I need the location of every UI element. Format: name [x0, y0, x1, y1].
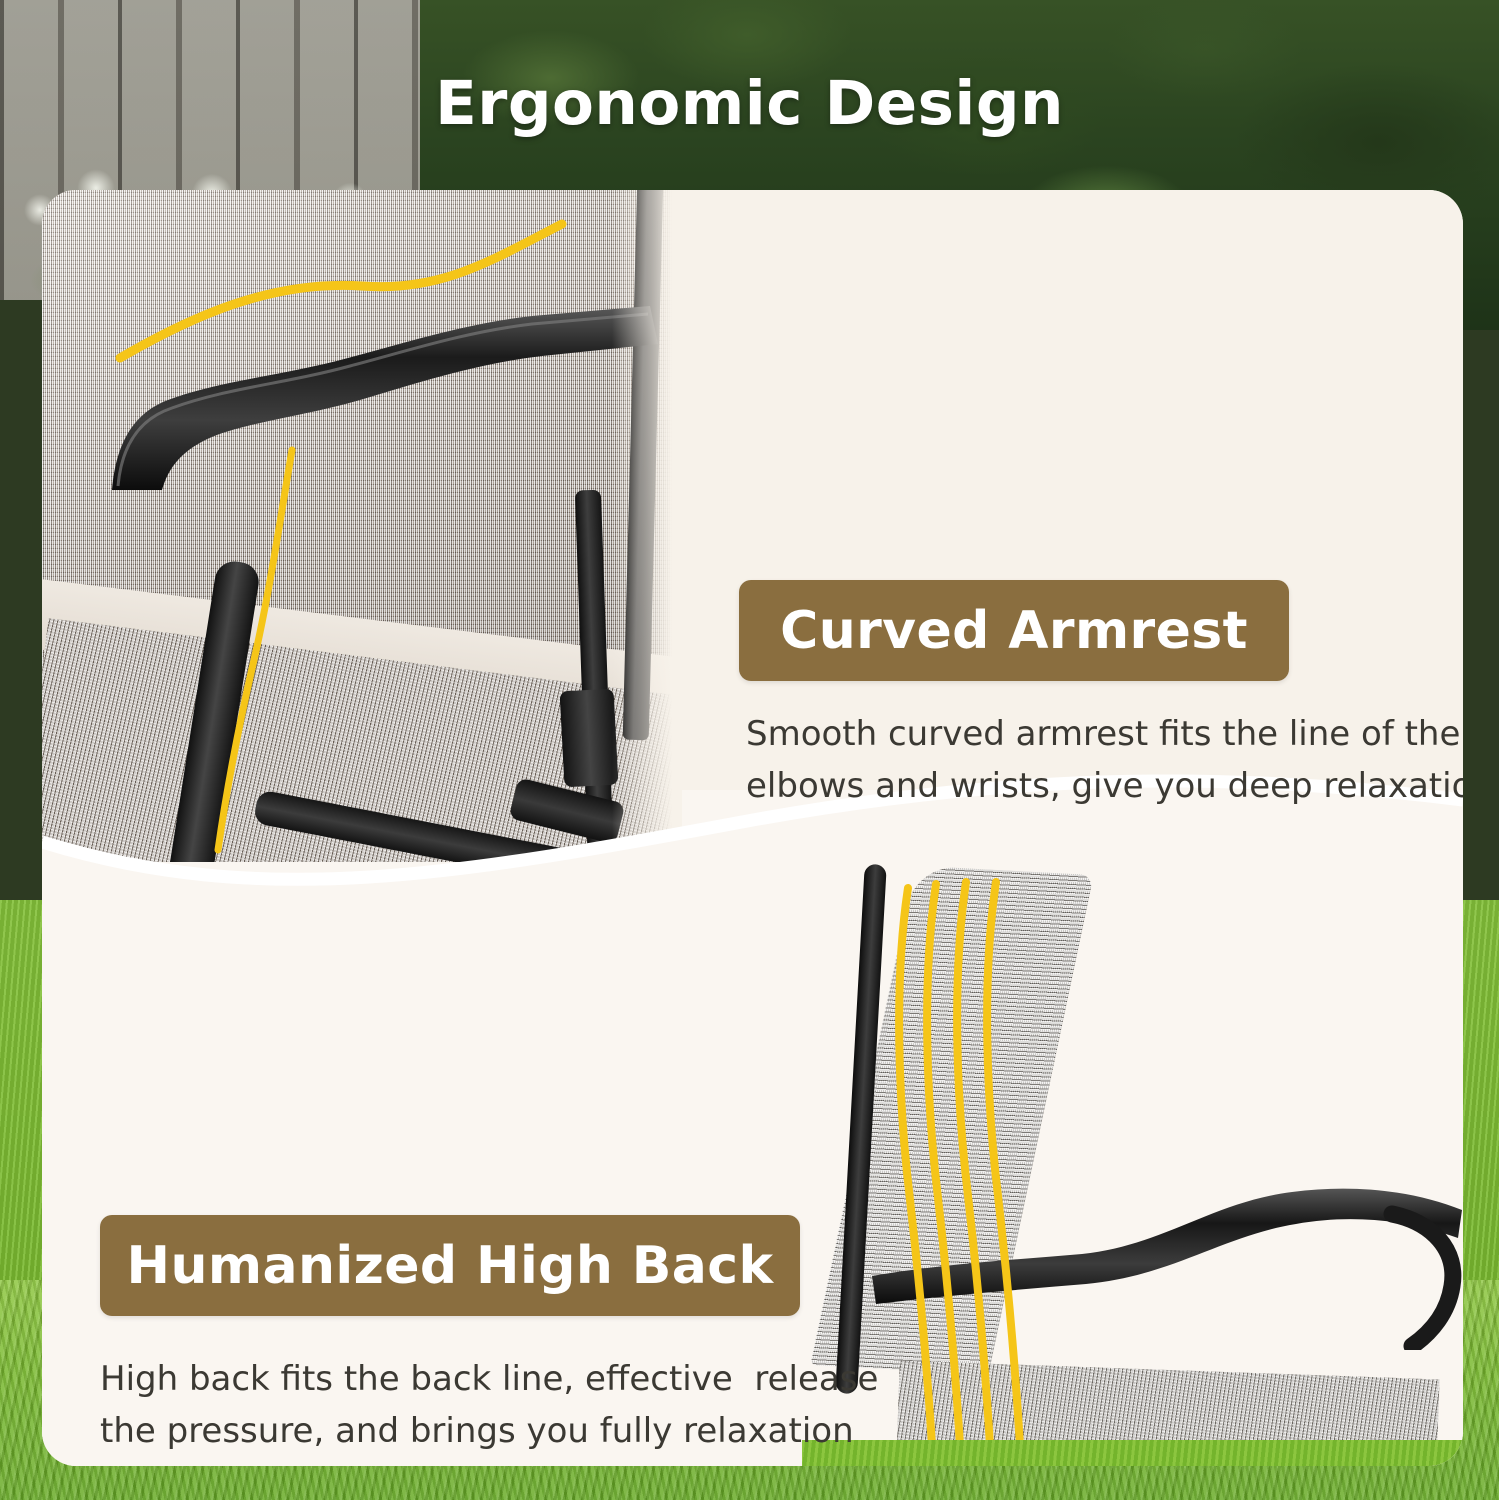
description-humanized-high-back-line2: the pressure, and brings you fully relax… [100, 1405, 860, 1457]
badge-humanized-high-back-label: Humanized High Back [127, 1236, 774, 1296]
badge-curved-armrest-label: Curved Armrest [780, 601, 1248, 661]
chair-grass-strip [802, 1440, 1463, 1466]
high-back-chair-photo [802, 850, 1463, 1466]
content-card: Curved Armrest Smooth curved armrest fit… [42, 190, 1463, 1466]
description-curved-armrest-line1: Smooth curved armrest fits the line of t… [746, 708, 1463, 760]
description-humanized-high-back-line1: High back fits the back line, effective … [100, 1353, 860, 1405]
badge-humanized-high-back: Humanized High Back [100, 1215, 800, 1316]
description-humanized-high-back: High back fits the back line, effective … [100, 1353, 860, 1457]
badge-curved-armrest: Curved Armrest [739, 580, 1289, 681]
page-title: Ergonomic Design [0, 68, 1499, 139]
description-curved-armrest-line2: elbows and wrists, give you deep relaxat… [746, 760, 1463, 812]
infographic-stage: Ergonomic Design [0, 0, 1499, 1500]
description-curved-armrest: Smooth curved armrest fits the line of t… [746, 708, 1463, 812]
high-back-annotation-curves [802, 850, 1463, 1466]
